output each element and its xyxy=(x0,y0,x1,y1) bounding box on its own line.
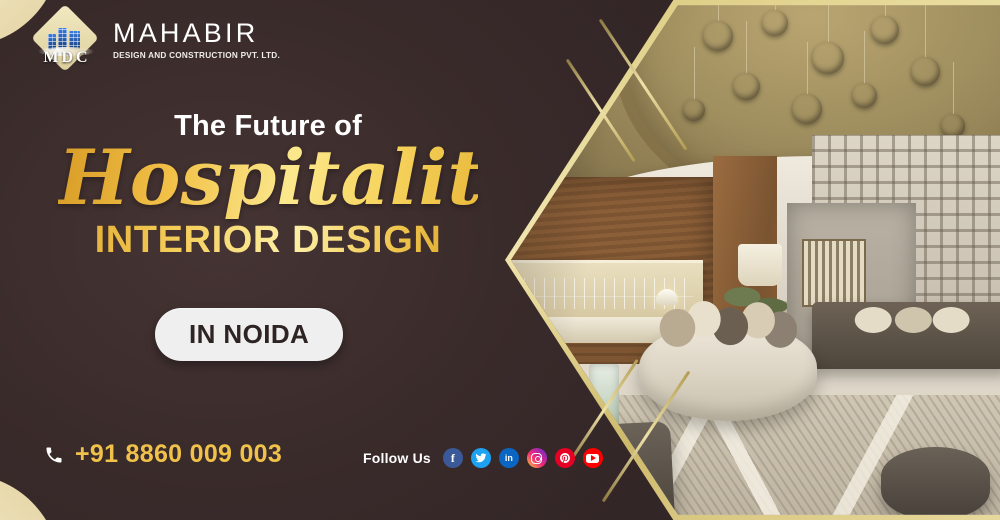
headline-line-3: INTERIOR DESIGN xyxy=(58,221,478,261)
phone-icon xyxy=(44,445,64,465)
instagram-icon[interactable] xyxy=(527,448,547,468)
pinterest-p-glyph xyxy=(559,452,571,464)
in-noida-button[interactable]: IN NOIDA xyxy=(155,308,343,361)
headline-script-word: Hospitality xyxy=(58,137,478,219)
follow-us-label: Follow Us xyxy=(363,450,431,466)
logo-monogram: MDC xyxy=(32,49,102,67)
linkedin-icon[interactable]: in xyxy=(499,448,519,468)
youtube-icon[interactable] xyxy=(583,448,603,468)
pinterest-icon[interactable] xyxy=(555,448,575,468)
youtube-play-glyph xyxy=(586,454,599,463)
brand-logo[interactable]: MDC MAHABIR DESIGN AND CONSTRUCTION PVT.… xyxy=(32,12,280,68)
facebook-icon[interactable]: f xyxy=(443,448,463,468)
social-links: Follow Us f in xyxy=(363,448,603,468)
phone-number: +91 8860 009 003 xyxy=(75,440,282,469)
twitter-icon[interactable] xyxy=(471,448,491,468)
headline-block: The Future of Hospitality INTERIOR DESIG… xyxy=(58,112,478,261)
phone-contact[interactable]: +91 8860 009 003 xyxy=(44,440,282,469)
play-triangle xyxy=(591,455,596,461)
brand-tagline: DESIGN AND CONSTRUCTION PVT. LTD. xyxy=(113,51,280,60)
mdc-building-diamond-logo-icon: MDC xyxy=(32,12,102,68)
promotional-banner: MDC MAHABIR DESIGN AND CONSTRUCTION PVT.… xyxy=(0,0,1000,520)
twitter-bird-glyph xyxy=(475,452,487,464)
instagram-camera-glyph xyxy=(531,453,542,464)
brand-text-block: MAHABIR DESIGN AND CONSTRUCTION PVT. LTD… xyxy=(113,20,280,60)
brand-name: MAHABIR xyxy=(113,20,280,47)
